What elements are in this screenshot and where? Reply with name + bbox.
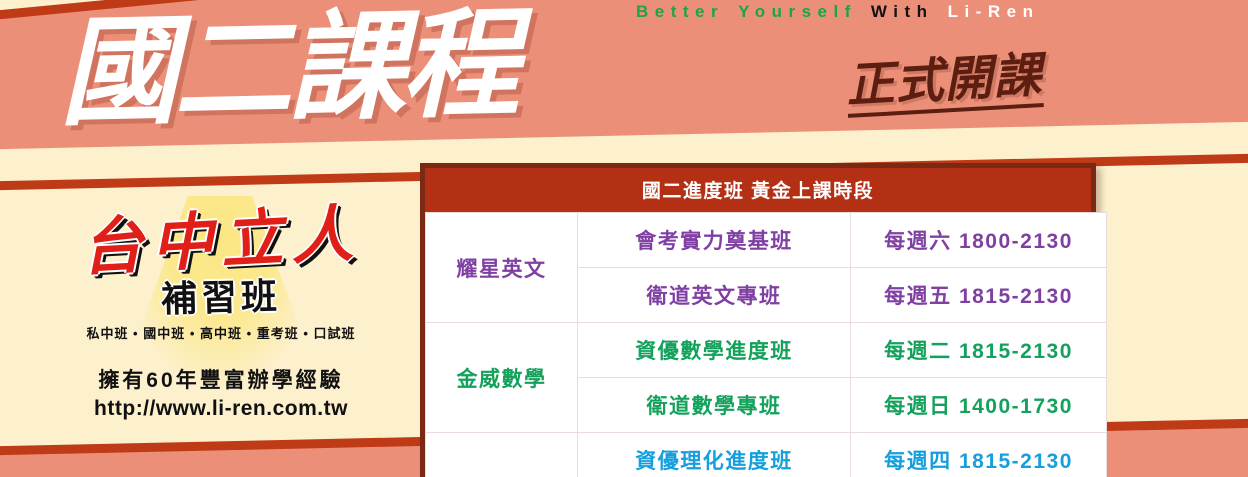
subject-cell: 耀星英文	[426, 213, 578, 323]
tagline-word-yourself: Yourself	[738, 2, 857, 21]
class-time-cell: 每週日 1400-1730	[851, 378, 1107, 433]
schedule-header: 國二進度班 黃金上課時段	[425, 168, 1091, 212]
tagline-word-with: With	[871, 2, 934, 21]
subject-cell: 金威數學	[426, 323, 578, 433]
subject-cell: 楊過自然	[426, 433, 578, 477]
schedule-table-container: 國二進度班 黃金上課時段 耀星英文會考實力奠基班每週六 1800-2130衛道英…	[420, 163, 1096, 477]
brand-track-list: 私中班 • 國中班 • 高中班 • 重考班 • 口試班	[46, 323, 396, 342]
page-title: 國二課程	[58, 4, 516, 132]
schedule-table: 耀星英文會考實力奠基班每週六 1800-2130衛道英文專班每週五 1815-2…	[425, 212, 1107, 477]
class-time-cell: 每週六 1800-2130	[851, 213, 1107, 268]
tagline-word-better: Better	[636, 2, 724, 21]
english-tagline: BetterYourselfWithLi-Ren	[636, 2, 1039, 22]
course-name-cell: 會考實力奠基班	[578, 213, 851, 268]
tagline-word-liren: Li-Ren	[948, 2, 1040, 21]
course-name-cell: 衛道數學專班	[578, 378, 851, 433]
promo-banner: BetterYourselfWithLi-Ren 國二課程 正式開課 台中立人 …	[0, 0, 1248, 477]
brand-logo-block: 台中立人 補習班 私中班 • 國中班 • 高中班 • 重考班 • 口試班 擁有6…	[46, 210, 396, 421]
schedule-table-body: 耀星英文會考實力奠基班每週六 1800-2130衛道英文專班每週五 1815-2…	[426, 213, 1107, 477]
class-time-cell: 每週二 1815-2130	[851, 323, 1107, 378]
table-row: 金威數學資優數學進度班每週二 1815-2130	[426, 323, 1107, 378]
course-name-cell: 衛道英文專班	[578, 268, 851, 323]
brand-name-sub: 補習班	[46, 275, 397, 320]
table-row: 耀星英文會考實力奠基班每週六 1800-2130	[426, 213, 1107, 268]
brand-experience-text: 擁有60年豐富辦學經驗	[46, 364, 396, 394]
class-time-cell: 每週五 1815-2130	[851, 268, 1107, 323]
table-row: 楊過自然資優理化進度班每週四 1815-2130	[426, 433, 1107, 477]
course-name-cell: 資優理化進度班	[578, 433, 851, 477]
brand-website-url[interactable]: http://www.li-ren.com.tw	[46, 397, 396, 421]
open-course-badge-wrap: 正式開課	[845, 51, 1044, 118]
class-time-cell: 每週四 1815-2130	[851, 433, 1107, 477]
status-badge: 正式開課	[845, 51, 1044, 118]
brand-name-main: 台中立人	[45, 201, 398, 281]
course-name-cell: 資優數學進度班	[578, 323, 851, 378]
